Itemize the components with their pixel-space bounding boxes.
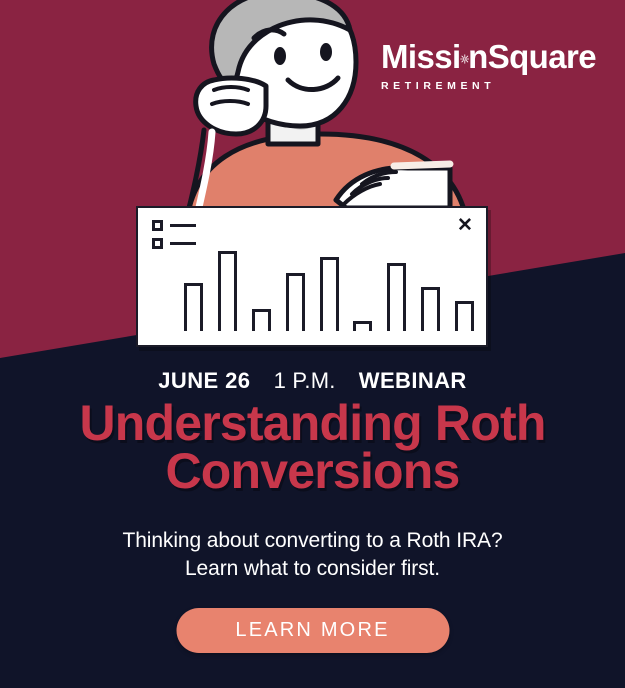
event-time: 1 P.M. (274, 368, 336, 393)
event-date: JUNE 26 (158, 368, 250, 393)
chart-bar (184, 283, 203, 331)
chart-card: ✕ (136, 206, 488, 347)
chart-bar (218, 251, 237, 331)
brand-name-part3: Square (488, 40, 596, 73)
subheadline: Thinking about converting to a Roth IRA?… (0, 527, 625, 583)
brand-name-part2: n (468, 40, 488, 73)
chart-bar (252, 309, 271, 331)
chart-bar (455, 301, 474, 331)
brand-name-part1: Missi (381, 40, 461, 73)
page-title: Understanding Roth Conversions (0, 400, 625, 495)
headline-line-1: Understanding Roth (0, 400, 625, 448)
chart-bar (286, 273, 305, 331)
legend-square-icon (152, 238, 163, 249)
subheadline-line-2: Learn what to consider first. (0, 555, 625, 583)
event-details: JUNE 26 1 P.M. WEBINAR (0, 370, 625, 392)
event-type: WEBINAR (359, 368, 467, 393)
brand-wordmark: Missi n Square (381, 40, 596, 73)
promo-banner: Missi n Square (0, 0, 625, 688)
legend-square-icon (152, 220, 163, 231)
person-thinking-illustration (150, 0, 490, 229)
headline-line-2: Conversions (0, 448, 625, 496)
bar-chart (184, 231, 474, 331)
subheadline-line-1: Thinking about converting to a Roth IRA? (0, 527, 625, 555)
legend-dash-icon (170, 224, 196, 228)
chart-bar (387, 263, 406, 331)
chart-bar (421, 287, 440, 331)
chart-bar (320, 257, 339, 331)
learn-more-button[interactable]: LEARN MORE (176, 608, 449, 653)
chart-bar (353, 321, 372, 331)
legend-row (152, 220, 196, 231)
brand-logo: Missi n Square (381, 40, 596, 92)
starburst-icon (460, 48, 470, 70)
brand-tagline: RETIREMENT (381, 80, 596, 92)
